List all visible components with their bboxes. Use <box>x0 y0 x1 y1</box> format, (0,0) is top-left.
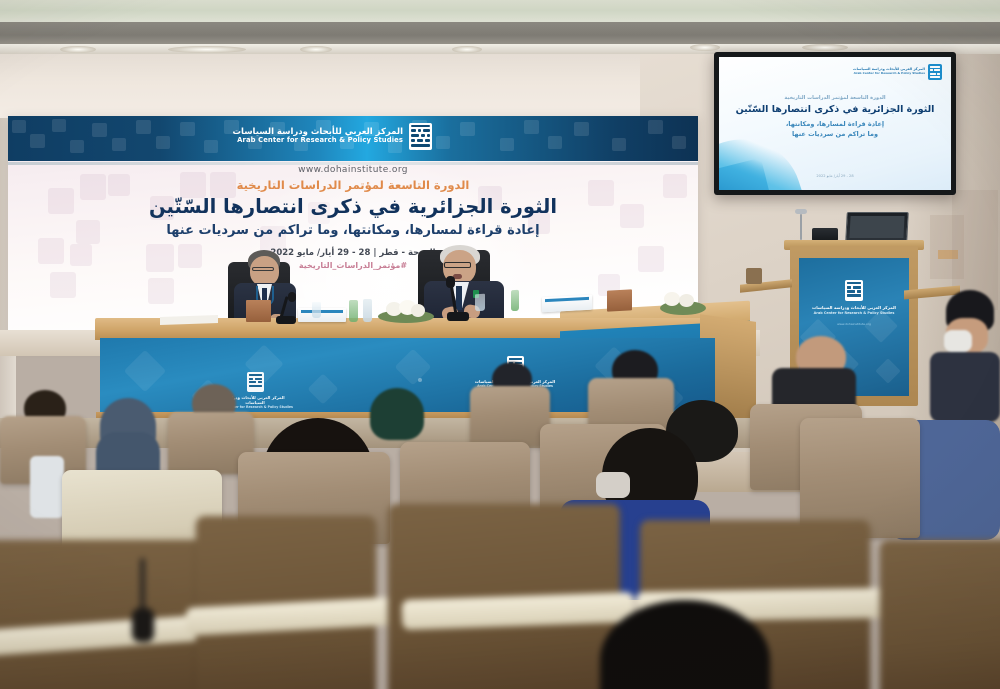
moderator-glasses-icon <box>252 267 274 271</box>
screen-subtitle-1: إعادة قراءة لمسارها، ومكانتها، <box>719 120 951 130</box>
podium-org-arabic: المركز العربي للأبحاث ودراسة السياسات <box>799 305 909 310</box>
speaker-tie <box>456 286 462 310</box>
flower-white <box>664 292 680 306</box>
wooden-block-left <box>246 300 271 322</box>
flower-white <box>411 304 425 317</box>
screen-subtitle-2: وما تراكم من سرديات عنها <box>719 130 951 140</box>
downlight-icon <box>452 46 482 53</box>
mic-cable <box>800 214 802 240</box>
foreground-seat <box>880 540 1000 689</box>
conference-subtitle: إعادة قراءة لمسارها، ومكانتها، وما تراكم… <box>8 222 698 241</box>
screen-logo-mark-icon <box>928 64 942 80</box>
foreground-seat <box>0 540 206 689</box>
screen-date: 28 - 29 أيار/ مايو 2022 <box>719 174 951 178</box>
mic-head-icon <box>795 209 807 214</box>
microphone-center-head-icon <box>446 276 455 288</box>
conference-kicker: الدورة التاسعة لمؤتمر الدراسات التاريخية <box>8 178 698 192</box>
microphone-left-head-icon <box>288 292 296 302</box>
downlight-icon <box>690 44 720 51</box>
water-bottle-green <box>349 300 358 322</box>
screen-kicker: الدورة التاسعة لمؤتمر الدراسات التاريخية <box>719 95 951 101</box>
flower-arrangement-right <box>660 292 706 316</box>
screen-title: الثورة الجزائرية في ذكرى انتصارها السّتّ… <box>719 104 951 116</box>
banner-header-band: المركز العربي للأبحاث ودراسة السياسات Ar… <box>8 116 698 161</box>
projection-screen: المركز العربي للأبحاث ودراسة السياسات Ar… <box>714 52 956 195</box>
water-bottle-green-2 <box>511 290 519 311</box>
downlight-icon <box>60 46 96 53</box>
audience-seat <box>470 386 550 446</box>
website-url: www.dohainstitute.org <box>8 165 698 175</box>
conference-hall-scene: المركز العربي للأبحاث ودراسة السياسات Ar… <box>0 0 1000 689</box>
downlight-icon <box>802 44 848 51</box>
microphone-left-base <box>276 316 296 324</box>
podium-laptop <box>845 212 909 242</box>
wooden-block-right <box>607 289 632 311</box>
drinking-glass-center <box>475 294 485 312</box>
org-name-english: Arab Center for Research & Policy Studie… <box>232 137 403 145</box>
audience-face-mask <box>944 330 972 352</box>
audience-mask <box>596 472 630 498</box>
conference-location-date: الدوحة - قطر | 28 - 29 أيار/ مايو 2022 <box>8 248 698 258</box>
conference-hashtag: #مؤتمر_الدراسات_التاريخية <box>8 261 698 270</box>
acrps-logo-mark-icon <box>409 123 432 150</box>
screen-text-block: الدورة التاسعة لمؤتمر الدراسات التاريخية… <box>719 95 951 139</box>
audience-garment-white <box>30 456 64 518</box>
screen-content: المركز العربي للأبحاث ودراسة السياسات Ar… <box>719 57 951 190</box>
water-bottle-clear <box>363 299 372 322</box>
podium-website: www.dohainstitute.org <box>799 322 909 326</box>
audience-torso <box>930 352 1000 422</box>
microphone-center-base <box>447 312 469 321</box>
screen-org-english: Arab Center for Research & Policy Studie… <box>853 72 925 75</box>
speaker-glasses-icon <box>444 262 471 268</box>
foreground-mic-head-icon <box>132 608 154 642</box>
conference-title: الثورة الجزائرية في ذكرى انتصارها السّتّ… <box>8 195 698 220</box>
flower-white <box>679 294 694 307</box>
table-logo-mark-icon-2 <box>247 372 264 392</box>
downlight-icon <box>300 46 332 53</box>
podium-logo-mark-icon <box>845 280 863 301</box>
acrps-logo: المركز العربي للأبحاث ودراسة السياسات Ar… <box>232 123 432 150</box>
podium-org-english: Arab Center for Research & Policy Studie… <box>799 311 909 315</box>
nameplate-center <box>542 295 592 313</box>
screen-acrps-logo: المركز العربي للأبحاث ودراسة السياسات Ar… <box>853 64 942 80</box>
moderator-head <box>250 256 279 286</box>
side-table-item <box>746 268 762 284</box>
flower-arrangement-center <box>378 300 434 324</box>
backdrop-text-block: الدورة التاسعة لمؤتمر الدراسات التاريخية… <box>8 178 698 270</box>
ceiling-soffit <box>0 22 1000 46</box>
podium-logo: المركز العربي للأبحاث ودراسة السياسات Ar… <box>799 280 909 326</box>
downlight-icon <box>168 46 246 53</box>
nameplate-left <box>298 308 346 322</box>
drinking-glass-left <box>312 302 321 318</box>
audience-head-hijab-green <box>370 388 424 440</box>
panel-fastener <box>418 378 422 382</box>
